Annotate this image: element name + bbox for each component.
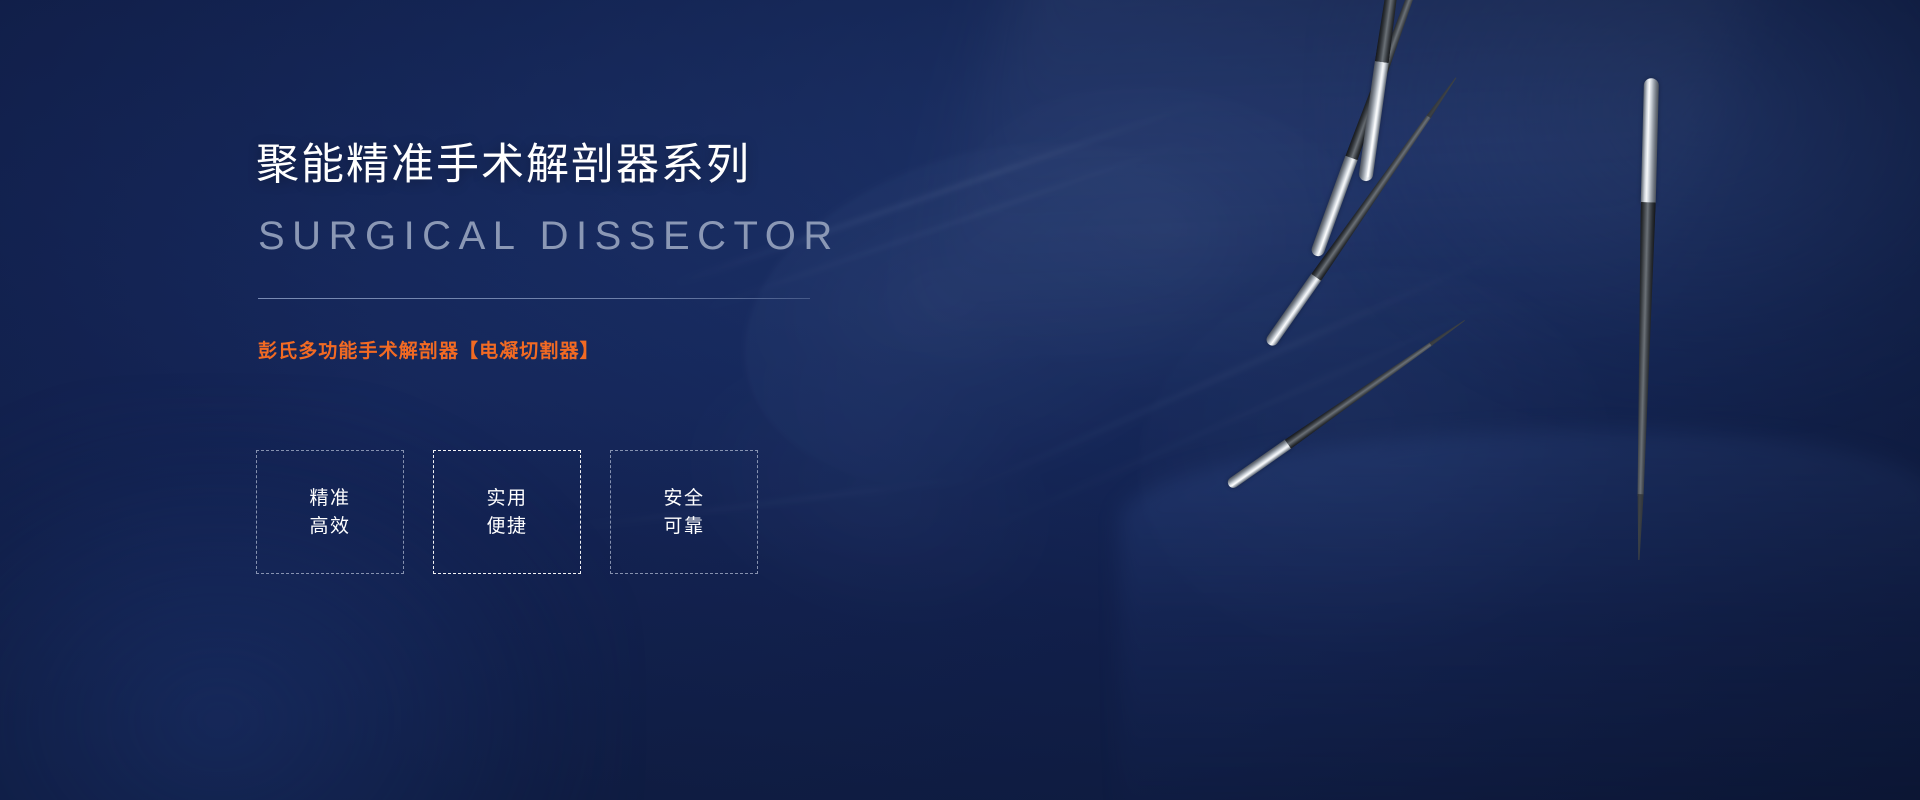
banner-text-column: 聚能精准手术解剖器系列 SURGICAL DISSECTOR 彭氏多功能手术解剖…: [256, 0, 976, 800]
feature-badge-safety: 安全 可靠: [610, 450, 758, 574]
headline-divider: [258, 298, 810, 299]
feature-badge-line2: 可靠: [663, 517, 704, 536]
product-name-label: 彭氏多功能手术解剖器【电凝切割器】: [258, 336, 600, 363]
banner-headline-chinese: 聚能精准手术解剖器系列: [256, 140, 751, 191]
feature-badge-line2: 高效: [309, 517, 350, 536]
feature-badge-line2: 便捷: [486, 517, 527, 536]
feature-badge-practical: 实用 便捷: [433, 450, 581, 574]
feature-badge-line1: 精准: [309, 489, 350, 508]
feature-badge-precision: 精准 高效: [256, 450, 404, 574]
banner-headline-english: SURGICAL DISSECTOR: [258, 212, 840, 260]
product-hero-banner: 聚能精准手术解剖器系列 SURGICAL DISSECTOR 彭氏多功能手术解剖…: [0, 0, 1920, 800]
feature-badge-line1: 安全: [663, 489, 704, 508]
feature-badge-line1: 实用: [486, 489, 527, 508]
feature-badge-group: 精准 高效 实用 便捷 安全 可靠: [256, 450, 758, 574]
